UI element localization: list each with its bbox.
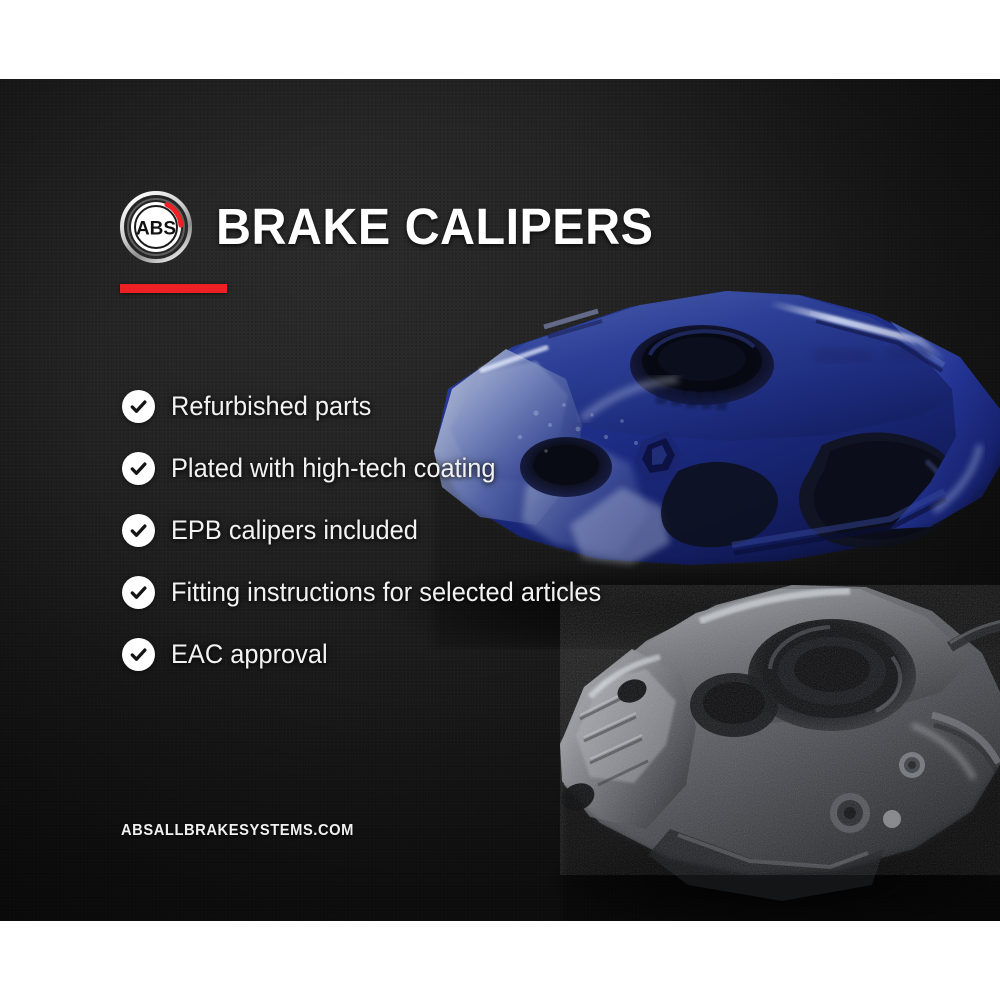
abs-logo-icon: ABS bbox=[120, 191, 192, 263]
list-item: Plated with high-tech coating bbox=[122, 452, 629, 485]
feature-label: EAC approval bbox=[171, 641, 328, 668]
red-accent-bar bbox=[120, 284, 227, 293]
list-item: EAC approval bbox=[122, 638, 629, 671]
feature-label: Fitting instructions for selected articl… bbox=[171, 579, 601, 606]
banner-header: ABS BRAKE CALIPERS bbox=[120, 167, 676, 286]
check-circle-icon bbox=[122, 638, 155, 671]
page-title: BRAKE CALIPERS bbox=[216, 201, 653, 252]
list-item: EPB calipers included bbox=[122, 514, 629, 547]
list-item: Fitting instructions for selected articl… bbox=[122, 576, 629, 609]
promo-banner-canvas: ABS BRAKE CALIPERS Refurbished parts Pla… bbox=[0, 0, 1000, 1000]
list-item: Refurbished parts bbox=[122, 390, 629, 423]
check-circle-icon bbox=[122, 514, 155, 547]
feature-label: Plated with high-tech coating bbox=[171, 455, 496, 482]
feature-label: Refurbished parts bbox=[171, 393, 371, 420]
check-circle-icon bbox=[122, 576, 155, 609]
check-circle-icon bbox=[122, 452, 155, 485]
feature-label: EPB calipers included bbox=[171, 517, 418, 544]
website-url: ABSALLBRAKESYSTEMS.COM bbox=[121, 822, 354, 840]
abs-logo-text: ABS bbox=[136, 218, 176, 239]
dark-banner-area: ABS BRAKE CALIPERS Refurbished parts Pla… bbox=[0, 79, 1000, 921]
feature-list: Refurbished parts Plated with high-tech … bbox=[122, 390, 629, 671]
check-circle-icon bbox=[122, 390, 155, 423]
